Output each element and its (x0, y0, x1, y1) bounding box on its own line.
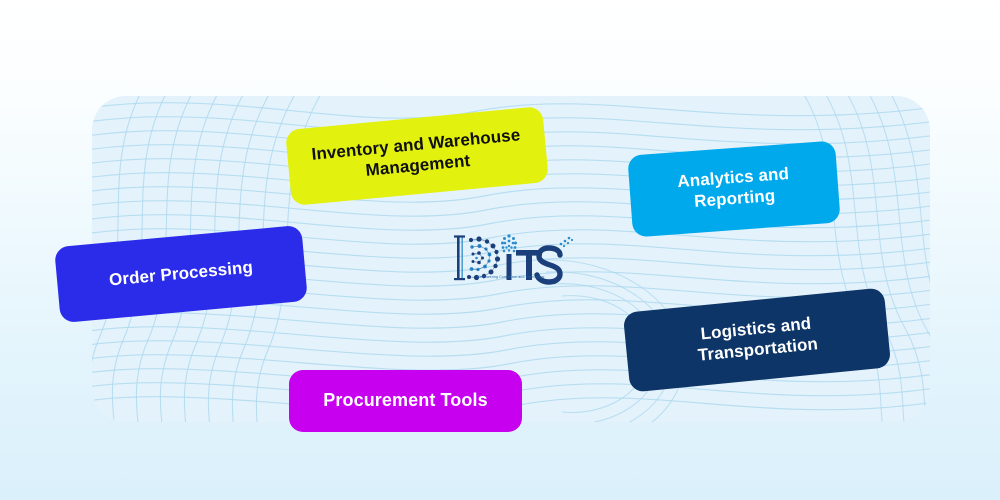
logo-flourish (560, 237, 573, 247)
card-label: Procurement Tools (323, 390, 487, 412)
logo-tagline: Empowering Commerce and Technology (448, 275, 574, 279)
logo-i (501, 234, 517, 280)
card-procurement-tools[interactable]: Procurement Tools (289, 370, 522, 432)
card-label: Logistics and Transportation (639, 308, 876, 372)
card-analytics-and-reporting[interactable]: Analytics and Reporting (627, 140, 840, 237)
card-label: Inventory and Warehouse Management (301, 125, 534, 188)
card-label: Order Processing (108, 257, 254, 291)
infographic-canvas: Order Processing Inventory and Warehouse… (0, 0, 1000, 500)
logo-b-stem (454, 235, 465, 280)
card-label: Analytics and Reporting (643, 162, 826, 217)
bits-logo: Empowering Commerce and Technology (448, 230, 574, 296)
logo-node-cluster (467, 236, 500, 280)
